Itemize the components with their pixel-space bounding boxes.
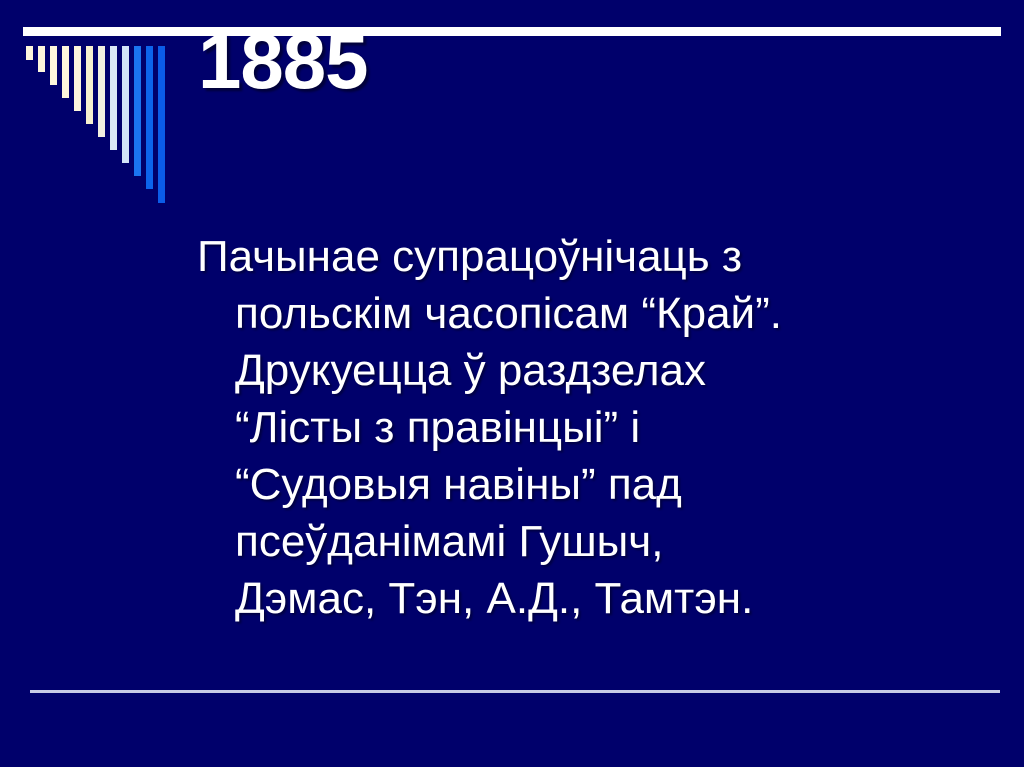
body-text-block: Пачынае супрацоўнічаць зпольскім часопіс… <box>197 228 957 627</box>
decorative-bar <box>158 46 165 203</box>
body-line: польскім часопісам “Край”. <box>235 285 957 342</box>
body-line: “Судовыя навіны” пад <box>235 456 957 513</box>
body-paragraph: Пачынае супрацоўнічаць зпольскім часопіс… <box>197 228 957 627</box>
decorative-bar-motif <box>26 46 176 206</box>
decorative-bar <box>134 46 141 176</box>
footer-rule <box>30 690 1000 693</box>
decorative-bar <box>38 46 45 72</box>
page-title: 1885 <box>198 22 988 100</box>
body-line: Дэмас, Тэн, А.Д., Тамтэн. <box>235 570 957 627</box>
decorative-bar <box>62 46 69 98</box>
body-line: Пачынае супрацоўнічаць з <box>197 228 957 285</box>
decorative-bar <box>86 46 93 124</box>
decorative-bar <box>110 46 117 150</box>
body-line: псеўданімамі Гушыч, <box>235 513 957 570</box>
decorative-bar <box>74 46 81 111</box>
decorative-bar <box>50 46 57 85</box>
decorative-bar <box>122 46 129 163</box>
decorative-bar <box>146 46 153 189</box>
decorative-bar <box>26 46 33 60</box>
decorative-bar <box>98 46 105 137</box>
body-line: Друкуецца ў раздзелах <box>235 342 957 399</box>
presentation-slide: 1885 Пачынае супрацоўнічаць зпольскім ча… <box>0 0 1024 767</box>
body-line: “Лісты з правінцыі” і <box>235 399 957 456</box>
